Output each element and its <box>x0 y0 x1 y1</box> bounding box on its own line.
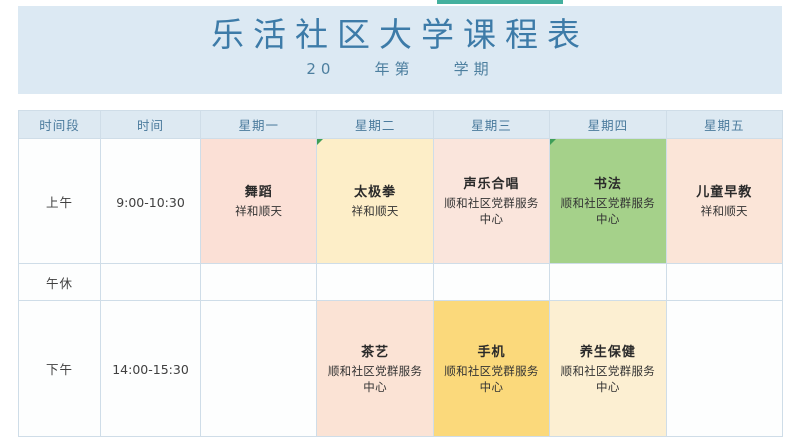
course-name: 茶艺 <box>361 343 389 363</box>
schedule-table: 时间段 时间 星期一 星期二 星期三 星期四 星期五 上午9:00-10:30舞… <box>18 110 783 437</box>
course-location: 顺和社区党群服务中心 <box>438 195 544 227</box>
course-cell-content <box>667 301 782 436</box>
course-cell-content: 手机顺和社区党群服务中心 <box>434 301 549 436</box>
table-row: 下午14:00-15:30茶艺顺和社区党群服务中心手机顺和社区党群服务中心养生保… <box>19 301 783 437</box>
column-header-thursday: 星期四 <box>550 111 666 139</box>
column-header-wednesday: 星期三 <box>433 111 549 139</box>
course-cell-monday-1[interactable] <box>201 264 317 301</box>
course-name: 书法 <box>594 175 622 195</box>
top-accent-strip <box>437 0 563 4</box>
course-name: 手机 <box>477 343 505 363</box>
course-cell-friday-0[interactable]: 儿童早教祥和顺天 <box>666 139 782 264</box>
course-cell-tuesday-2[interactable]: 茶艺顺和社区党群服务中心 <box>317 301 433 437</box>
course-cell-content: 书法顺和社区党群服务中心 <box>550 139 665 263</box>
column-header-time: 时间 <box>101 111 201 139</box>
table-row: 午休 <box>19 264 783 301</box>
course-cell-monday-0[interactable]: 舞蹈祥和顺天 <box>201 139 317 264</box>
course-cell-wednesday-2[interactable]: 手机顺和社区党群服务中心 <box>433 301 549 437</box>
course-cell-content: 舞蹈祥和顺天 <box>201 139 316 263</box>
course-cell-content: 茶艺顺和社区党群服务中心 <box>317 301 432 436</box>
course-cell-content <box>667 264 782 300</box>
page-title: 乐活社区大学课程表 <box>18 13 782 57</box>
course-cell-content <box>317 264 432 300</box>
column-header-tuesday: 星期二 <box>317 111 433 139</box>
course-cell-friday-2[interactable] <box>666 301 782 437</box>
table-row: 上午9:00-10:30舞蹈祥和顺天太极拳祥和顺天声乐合唱顺和社区党群服务中心书… <box>19 139 783 264</box>
time-cell-0: 9:00-10:30 <box>101 139 201 264</box>
course-cell-content <box>201 301 316 436</box>
course-cell-content: 太极拳祥和顺天 <box>317 139 432 263</box>
course-cell-content <box>201 264 316 300</box>
table-header-row: 时间段 时间 星期一 星期二 星期三 星期四 星期五 <box>19 111 783 139</box>
course-cell-tuesday-1[interactable] <box>317 264 433 301</box>
course-location: 祥和顺天 <box>351 203 398 219</box>
course-cell-thursday-1[interactable] <box>550 264 666 301</box>
course-location: 顺和社区党群服务中心 <box>438 363 544 395</box>
column-header-segment: 时间段 <box>19 111 101 139</box>
page-subtitle: 20 年第 学期 <box>18 57 782 81</box>
course-name: 太极拳 <box>354 183 396 203</box>
segment-cell-0: 上午 <box>19 139 101 264</box>
time-label: 9:00-10:30 <box>116 195 185 210</box>
course-cell-monday-2[interactable] <box>201 301 317 437</box>
course-location: 顺和社区党群服务中心 <box>322 363 428 395</box>
course-cell-thursday-2[interactable]: 养生保健顺和社区党群服务中心 <box>550 301 666 437</box>
column-header-friday: 星期五 <box>666 111 782 139</box>
segment-label: 午休 <box>46 276 73 291</box>
course-location: 祥和顺天 <box>701 203 748 219</box>
segment-cell-2: 下午 <box>19 301 101 437</box>
corner-flag-icon <box>317 139 323 145</box>
course-cell-thursday-0[interactable]: 书法顺和社区党群服务中心 <box>550 139 666 264</box>
course-location: 顺和社区党群服务中心 <box>555 195 661 227</box>
course-cell-content: 儿童早教祥和顺天 <box>667 139 782 263</box>
course-name: 儿童早教 <box>696 183 752 203</box>
column-header-monday: 星期一 <box>201 111 317 139</box>
segment-label: 上午 <box>46 195 73 210</box>
segment-label: 下午 <box>46 362 73 377</box>
time-label: 14:00-15:30 <box>112 362 189 377</box>
course-cell-content <box>550 264 665 300</box>
course-cell-tuesday-0[interactable]: 太极拳祥和顺天 <box>317 139 433 264</box>
course-cell-content: 声乐合唱顺和社区党群服务中心 <box>434 139 549 263</box>
schedule-page: 乐活社区大学课程表 20 年第 学期 时间段 时间 星期一 星期二 星期三 星期… <box>0 0 800 440</box>
course-location: 顺和社区党群服务中心 <box>555 363 661 395</box>
table-body: 上午9:00-10:30舞蹈祥和顺天太极拳祥和顺天声乐合唱顺和社区党群服务中心书… <box>19 139 783 437</box>
course-cell-content <box>434 264 549 300</box>
time-cell-1 <box>101 264 201 301</box>
course-cell-wednesday-0[interactable]: 声乐合唱顺和社区党群服务中心 <box>433 139 549 264</box>
course-location: 祥和顺天 <box>235 203 282 219</box>
time-cell-2: 14:00-15:30 <box>101 301 201 437</box>
title-banner: 乐活社区大学课程表 20 年第 学期 <box>18 6 782 94</box>
corner-flag-icon <box>550 139 556 145</box>
course-cell-friday-1[interactable] <box>666 264 782 301</box>
course-name: 养生保健 <box>580 343 636 363</box>
course-cell-wednesday-1[interactable] <box>433 264 549 301</box>
segment-cell-1: 午休 <box>19 264 101 301</box>
course-name: 舞蹈 <box>245 183 273 203</box>
course-name: 声乐合唱 <box>463 175 519 195</box>
course-cell-content: 养生保健顺和社区党群服务中心 <box>550 301 665 436</box>
